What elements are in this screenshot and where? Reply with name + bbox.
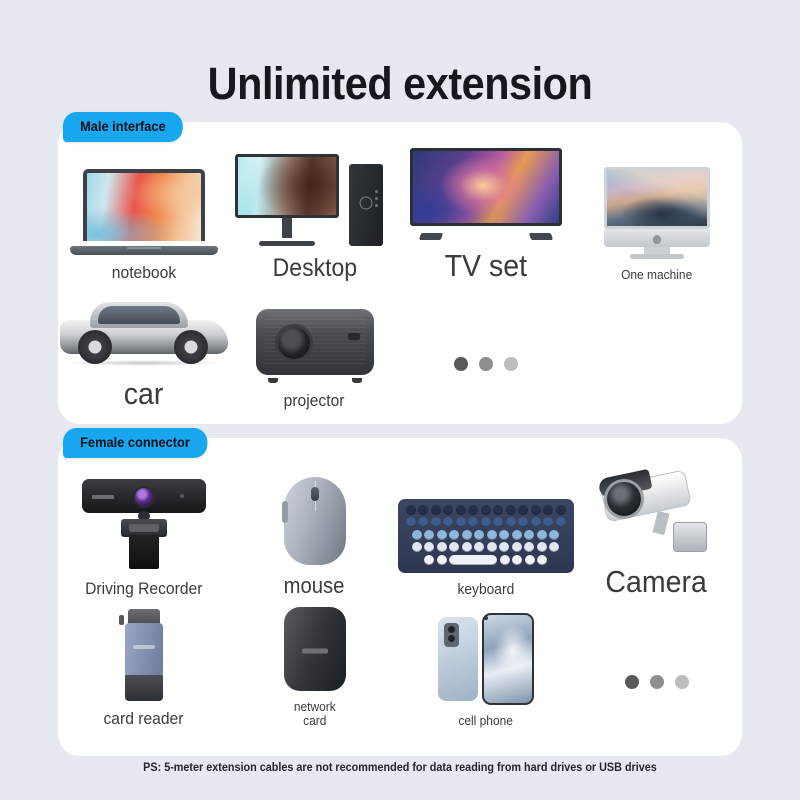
imac-icon <box>598 167 716 259</box>
card-reader-icon <box>122 609 166 701</box>
female-connector-badge: Female connector <box>63 428 207 458</box>
dot-2 <box>650 675 664 689</box>
item-one-machine[interactable]: One machine <box>571 150 742 282</box>
cell-phone-icon <box>438 613 534 705</box>
male-interface-badge: Male interface <box>63 112 183 142</box>
item-label: notebook <box>111 264 175 282</box>
promo-page: Unlimited extension Male interface noteb… <box>0 0 800 800</box>
item-label: mouse <box>284 574 345 598</box>
security-camera-icon <box>593 464 721 556</box>
item-projector[interactable]: projector <box>229 282 400 410</box>
network-card-icon <box>284 600 346 691</box>
keyboard-icon <box>398 481 574 573</box>
more-dots-icon <box>454 318 518 410</box>
female-more-indicator[interactable] <box>571 600 742 728</box>
more-dots-icon <box>625 636 689 728</box>
male-more-indicator[interactable] <box>400 282 571 410</box>
dot-3 <box>675 675 689 689</box>
female-row-1: Driving Recorder mouse <box>58 466 742 598</box>
female-connector-card: Female connector Driving Recorder mouse <box>58 438 742 756</box>
footer-note: PS: 5-meter extension cables are not rec… <box>24 762 776 774</box>
item-network-card[interactable]: network card <box>229 600 400 728</box>
car-icon <box>56 282 232 368</box>
item-card-reader[interactable]: card reader <box>58 600 229 728</box>
item-keyboard[interactable]: keyboard <box>400 466 571 598</box>
item-tv-set[interactable]: TV set <box>400 150 571 282</box>
item-label: projector <box>284 392 345 410</box>
dashcam-icon <box>78 479 210 571</box>
male-row-2: car projector <box>58 282 742 410</box>
item-label: keyboard <box>457 582 514 598</box>
item-label: One machine <box>621 268 692 282</box>
item-label: card reader <box>104 710 184 728</box>
item-notebook[interactable]: notebook <box>58 150 229 282</box>
projector-icon <box>256 291 374 383</box>
female-row-2: card reader network card cell phone <box>58 600 742 728</box>
male-interface-card: Male interface notebook Desktop <box>58 122 742 424</box>
item-driving-recorder[interactable]: Driving Recorder <box>58 466 229 598</box>
item-label: network card <box>294 700 336 728</box>
item-label: Driving Recorder <box>85 580 202 598</box>
item-camera[interactable]: Camera <box>571 466 742 598</box>
item-car[interactable]: car <box>58 282 229 410</box>
item-cell-phone[interactable]: cell phone <box>400 600 571 728</box>
item-label: Camera <box>606 565 707 598</box>
male-row-1: notebook Desktop TV set <box>58 150 742 282</box>
item-desktop[interactable]: Desktop <box>229 150 400 282</box>
mouse-icon <box>284 473 346 565</box>
item-label: cell phone <box>458 714 513 728</box>
dot-3 <box>504 357 518 371</box>
male-row2-spacer <box>571 282 742 410</box>
desktop-icon <box>235 154 395 246</box>
laptop-icon <box>70 163 218 255</box>
dot-1 <box>625 675 639 689</box>
tv-icon <box>410 148 562 240</box>
item-mouse[interactable]: mouse <box>229 466 400 598</box>
dot-1 <box>454 357 468 371</box>
item-label: Desktop <box>272 255 356 282</box>
item-label: TV set <box>444 249 526 282</box>
dot-2 <box>479 357 493 371</box>
page-title: Unlimited extension <box>32 0 768 110</box>
item-label: car <box>124 377 164 410</box>
